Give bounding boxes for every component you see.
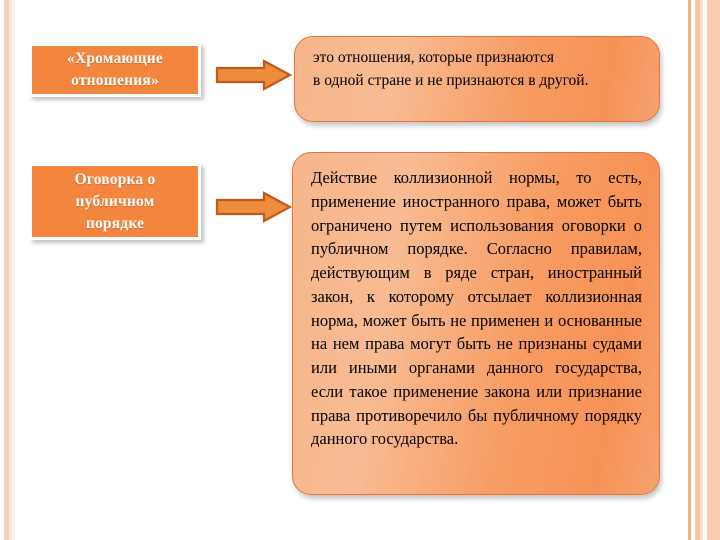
callout-line: в одной стране и не признаются в другой. — [313, 70, 643, 93]
arrow-to-description-icon — [214, 190, 294, 224]
label-line: отношения» — [67, 70, 163, 92]
label-box-public-policy-clause: Оговорка о публичном порядке — [29, 163, 201, 240]
callout-line: это отношения, которые признаются — [313, 47, 643, 70]
callout-definition-limping-relations: это отношения, которые признаются в одно… — [294, 36, 660, 122]
label-text-group: «Хромающие отношения» — [67, 48, 163, 92]
callout-public-policy-clause-description: Действие коллизионной нормы, то есть, пр… — [292, 152, 660, 495]
slide-canvas: «Хромающие отношения» Оговорка о публичн… — [0, 0, 720, 540]
label-line: порядке — [75, 213, 156, 235]
decorative-stripe-right-6 — [707, 0, 720, 540]
arrow-to-definition-icon — [214, 58, 294, 92]
callout-paragraph: Действие коллизионной нормы, то есть, пр… — [311, 166, 642, 451]
label-box-limping-relations: «Хромающие отношения» — [29, 43, 201, 97]
label-line: публичном — [75, 191, 156, 213]
label-line: «Хромающие — [67, 48, 163, 70]
decorative-stripe-left-inner — [12, 0, 15, 540]
label-line: Оговорка о — [75, 169, 156, 191]
label-text-group: Оговорка о публичном порядке — [75, 169, 156, 235]
